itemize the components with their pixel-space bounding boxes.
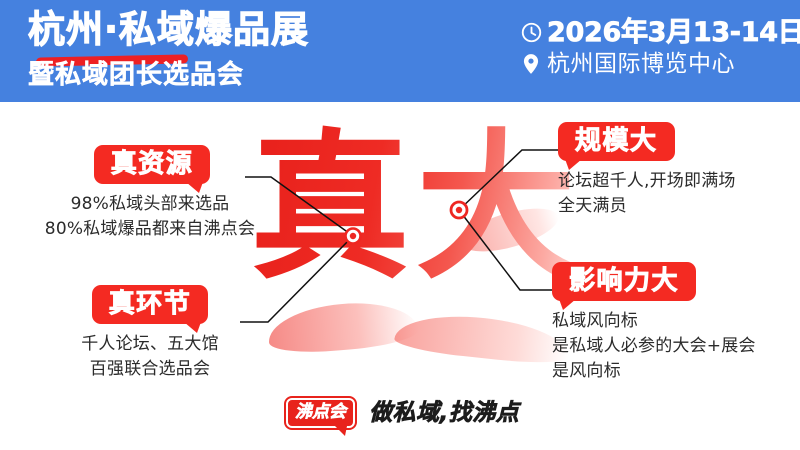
callout-line: 是私域人必参的大会+展会 — [552, 334, 756, 359]
poster-canvas: 杭州·私域爆品展 暨私域团长选品会 2026年3月13-14日 — [0, 0, 800, 450]
location-pin-icon — [520, 53, 542, 75]
callout-body-zhen-huan-jie: 千人论坛、五大馆 百强联合选品会 — [0, 332, 300, 382]
callout-zhen-huan-jie[interactable]: 真环节 千人论坛、五大馆 百强联合选品会 — [0, 285, 300, 382]
callout-tag-zhen-zi-yuan[interactable]: 真资源 — [94, 145, 211, 184]
callout-line: 80%私域爆品都来自沸点会 — [0, 217, 300, 242]
callout-line: 私域风向标 — [552, 309, 756, 334]
callout-gui-mo-da[interactable]: 规模大 论坛超千人,开场即满场 全天满员 — [558, 122, 736, 219]
event-venue: 杭州国际博览中心 — [547, 51, 735, 77]
brand-slogan: 做私域,找沸点 — [369, 400, 519, 426]
event-meta: 2026年3月13-14日 杭州国际博览中心 — [520, 18, 800, 77]
page-subtitle: 暨私域团长选品会 — [28, 60, 309, 90]
brand-logo-badge[interactable]: 沸点会 — [286, 398, 355, 428]
callout-ying-xiang-li-da[interactable]: 影响力大 私域风向标 是私域人必参的大会+展会 是风向标 — [552, 262, 756, 384]
callout-body-gui-mo-da: 论坛超千人,开场即满场 全天满员 — [558, 169, 736, 219]
clock-icon — [520, 22, 542, 44]
callout-line: 千人论坛、五大馆 — [0, 332, 300, 357]
callout-tag-ying-xiang-li-da[interactable]: 影响力大 — [552, 262, 696, 301]
callout-line: 全天满员 — [558, 194, 736, 219]
callout-zhen-zi-yuan[interactable]: 真资源 98%私域头部来选品 80%私域爆品都来自沸点会 — [0, 145, 300, 242]
callout-tag-gui-mo-da[interactable]: 规模大 — [558, 122, 675, 161]
callout-line: 是风向标 — [552, 359, 756, 384]
header-banner: 杭州·私域爆品展 暨私域团长选品会 2026年3月13-14日 — [0, 0, 800, 102]
event-date-row: 2026年3月13-14日 — [520, 18, 800, 47]
callout-line: 百强联合选品会 — [0, 357, 300, 382]
footer-logo-lockup[interactable]: 沸点会 做私域,找沸点 — [286, 395, 519, 431]
event-date: 2026年3月13-14日 — [547, 18, 800, 47]
callout-line: 论坛超千人,开场即满场 — [558, 169, 736, 194]
callout-body-ying-xiang-li-da: 私域风向标 是私域人必参的大会+展会 是风向标 — [552, 309, 756, 384]
page-title: 杭州·私域爆品展 — [28, 8, 309, 52]
event-venue-row: 杭州国际博览中心 — [520, 51, 800, 77]
callout-line: 98%私域头部来选品 — [0, 192, 300, 217]
title-block: 杭州·私域爆品展 暨私域团长选品会 — [28, 8, 309, 90]
callout-body-zhen-zi-yuan: 98%私域头部来选品 80%私域爆品都来自沸点会 — [0, 192, 300, 242]
callout-tag-zhen-huan-jie[interactable]: 真环节 — [92, 285, 209, 324]
